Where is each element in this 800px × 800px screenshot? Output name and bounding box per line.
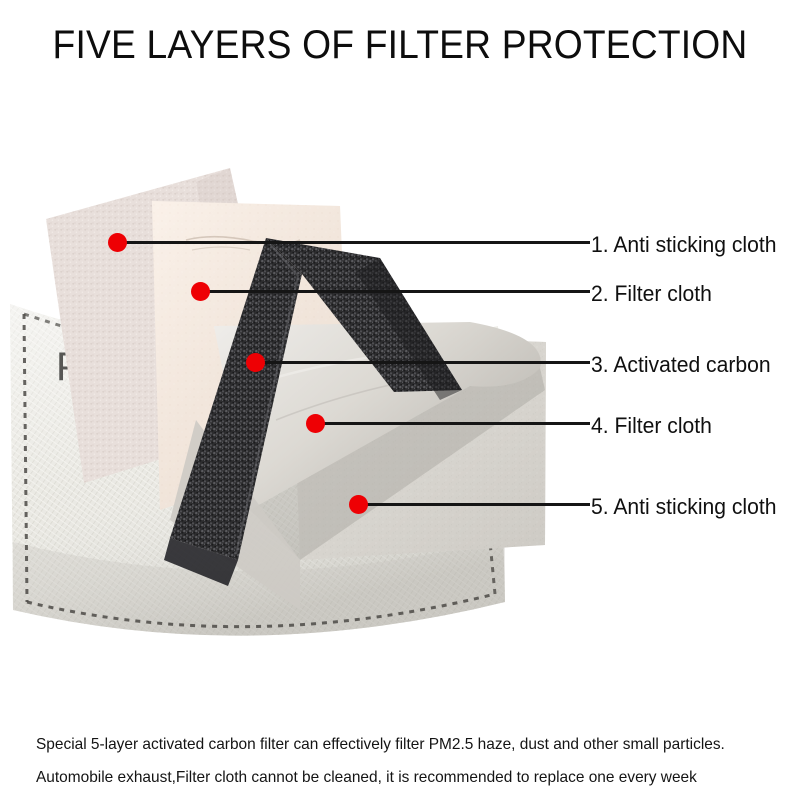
callout-dot-3: [246, 353, 265, 372]
callout-line-2: [207, 290, 590, 293]
callout-dot-1: [108, 233, 127, 252]
page-title: FIVE LAYERS OF FILTER PROTECTION: [28, 22, 772, 68]
layer-label-2: 2. Filter cloth: [591, 281, 712, 307]
callout-line-4: [322, 422, 590, 425]
caption-line-1: Special 5-layer activated carbon filter …: [36, 728, 750, 761]
filter-layers-infographic: FIVE LAYERS OF FILTER PROTECTION: [0, 0, 800, 800]
layer-label-5: 5. Anti sticking cloth: [591, 494, 776, 520]
product-illustration: P: [0, 90, 800, 690]
callout-dot-4: [306, 414, 325, 433]
layer-label-4: 4. Filter cloth: [591, 413, 712, 439]
layer-label-1: 1. Anti sticking cloth: [591, 232, 776, 258]
callout-dot-5: [349, 495, 368, 514]
callout-line-1: [124, 241, 590, 244]
callout-line-5: [365, 503, 590, 506]
caption-line-2: Automobile exhaust,Filter cloth cannot b…: [36, 761, 750, 794]
layer-label-3: 3. Activated carbon: [591, 352, 771, 378]
caption-block: Special 5-layer activated carbon filter …: [36, 728, 776, 794]
mask-filter-layers-artwork: P: [0, 90, 800, 690]
callout-dot-2: [191, 282, 210, 301]
callout-line-3: [262, 361, 590, 364]
